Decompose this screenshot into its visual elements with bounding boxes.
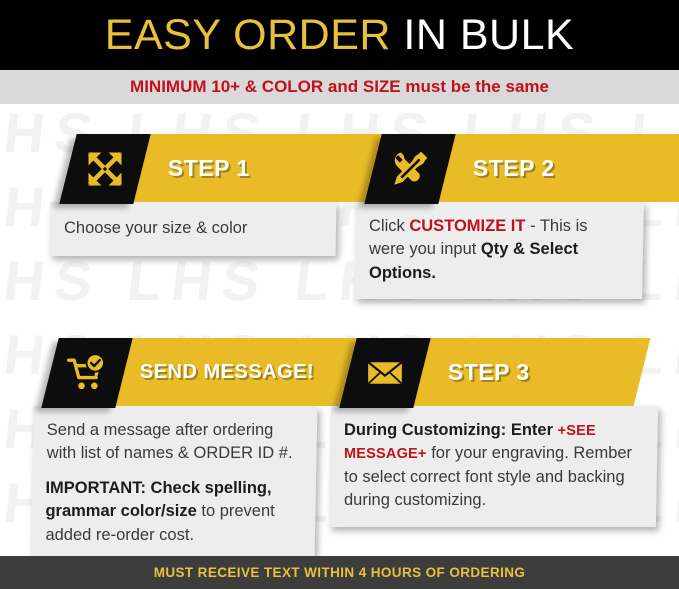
- card-text: Choose your size & color: [64, 217, 247, 240]
- card-text-emphasis-dark: color/size: [121, 502, 197, 520]
- icon-tile-step-2: [364, 134, 455, 204]
- card-text-part: you input: [409, 240, 481, 258]
- shopping-cart-check-icon: [65, 351, 109, 395]
- step-badge-label: STEP 1: [168, 155, 250, 182]
- card-text: During Customizing: Enter +SEE MESSAGE+ …: [344, 419, 639, 513]
- card-body-step-2: Click CUSTOMIZE IT - This is were you in…: [354, 202, 644, 299]
- card-header-step-3: STEP 3: [330, 338, 660, 408]
- step-badge-banner: STEP 1: [114, 134, 393, 202]
- infographic-page: LHS LHS LHS LHS LHS LHS LHS LHS LHS LHS …: [0, 0, 679, 589]
- card-text: Click CUSTOMIZE IT - This is were you in…: [369, 215, 625, 285]
- card-text-emphasis-red: CUSTOMIZE IT: [409, 217, 525, 235]
- card-text-part: Click: [369, 217, 409, 235]
- header-banner: EASY ORDER IN BULK: [0, 0, 679, 70]
- page-title-gold: EASY ORDER: [105, 11, 391, 59]
- card-step-3: STEP 3 During Customizing: Enter +SEE ME…: [330, 338, 660, 527]
- step-badge-label: STEP 3: [448, 359, 530, 386]
- envelope-icon: [364, 352, 406, 394]
- card-header-step-2: STEP 2: [355, 134, 650, 204]
- step-badge-banner: STEP 2: [419, 134, 679, 202]
- card-body-send-message: Send a message after ordering with list …: [31, 406, 318, 561]
- step-badge-banner: SEND MESSAGE!: [96, 338, 365, 406]
- expand-arrows-icon: [83, 147, 127, 191]
- card-send-message: SEND MESSAGE! S: [32, 338, 327, 561]
- footer-banner: MUST RECEIVE TEXT WITHIN 4 HOURS OF ORDE…: [0, 556, 679, 589]
- step-badge-label: SEND MESSAGE!: [140, 361, 314, 384]
- card-body-step-3: During Customizing: Enter +SEE MESSAGE+ …: [329, 406, 658, 527]
- card-header-step-1: STEP 1: [50, 134, 345, 204]
- icon-tile-step-1: [59, 134, 150, 204]
- wrench-pencil-icon: [388, 147, 432, 191]
- step-badge-label: STEP 2: [473, 155, 555, 182]
- subheader-banner: MINIMUM 10+ & COLOR and SIZE must be the…: [0, 70, 679, 104]
- card-header-send-message: SEND MESSAGE!: [32, 338, 327, 408]
- icon-tile-step-3: [339, 338, 430, 408]
- card-step-1: STEP 1: [50, 134, 345, 256]
- footer-text: MUST RECEIVE TEXT WITHIN 4 HOURS OF ORDE…: [154, 565, 526, 580]
- page-title-white: IN BULK: [403, 11, 574, 59]
- card-step-2: STEP 2: [355, 134, 650, 299]
- card-text-emphasis-dark: IMPORTANT:: [45, 479, 146, 497]
- step-badge-banner: STEP 3: [394, 338, 651, 406]
- icon-tile-send-message: [41, 338, 132, 408]
- card-text-emphasis-dark: During Customizing: Enter: [344, 421, 558, 439]
- page-title: EASY ORDER IN BULK: [105, 11, 574, 60]
- card-body-step-1: Choose your size & color: [49, 202, 336, 256]
- card-text: Send a message after ordering with list …: [47, 419, 299, 466]
- subheader-text: MINIMUM 10+ & COLOR and SIZE must be the…: [130, 77, 549, 97]
- card-text: IMPORTANT: Check spelling, grammar color…: [45, 477, 297, 547]
